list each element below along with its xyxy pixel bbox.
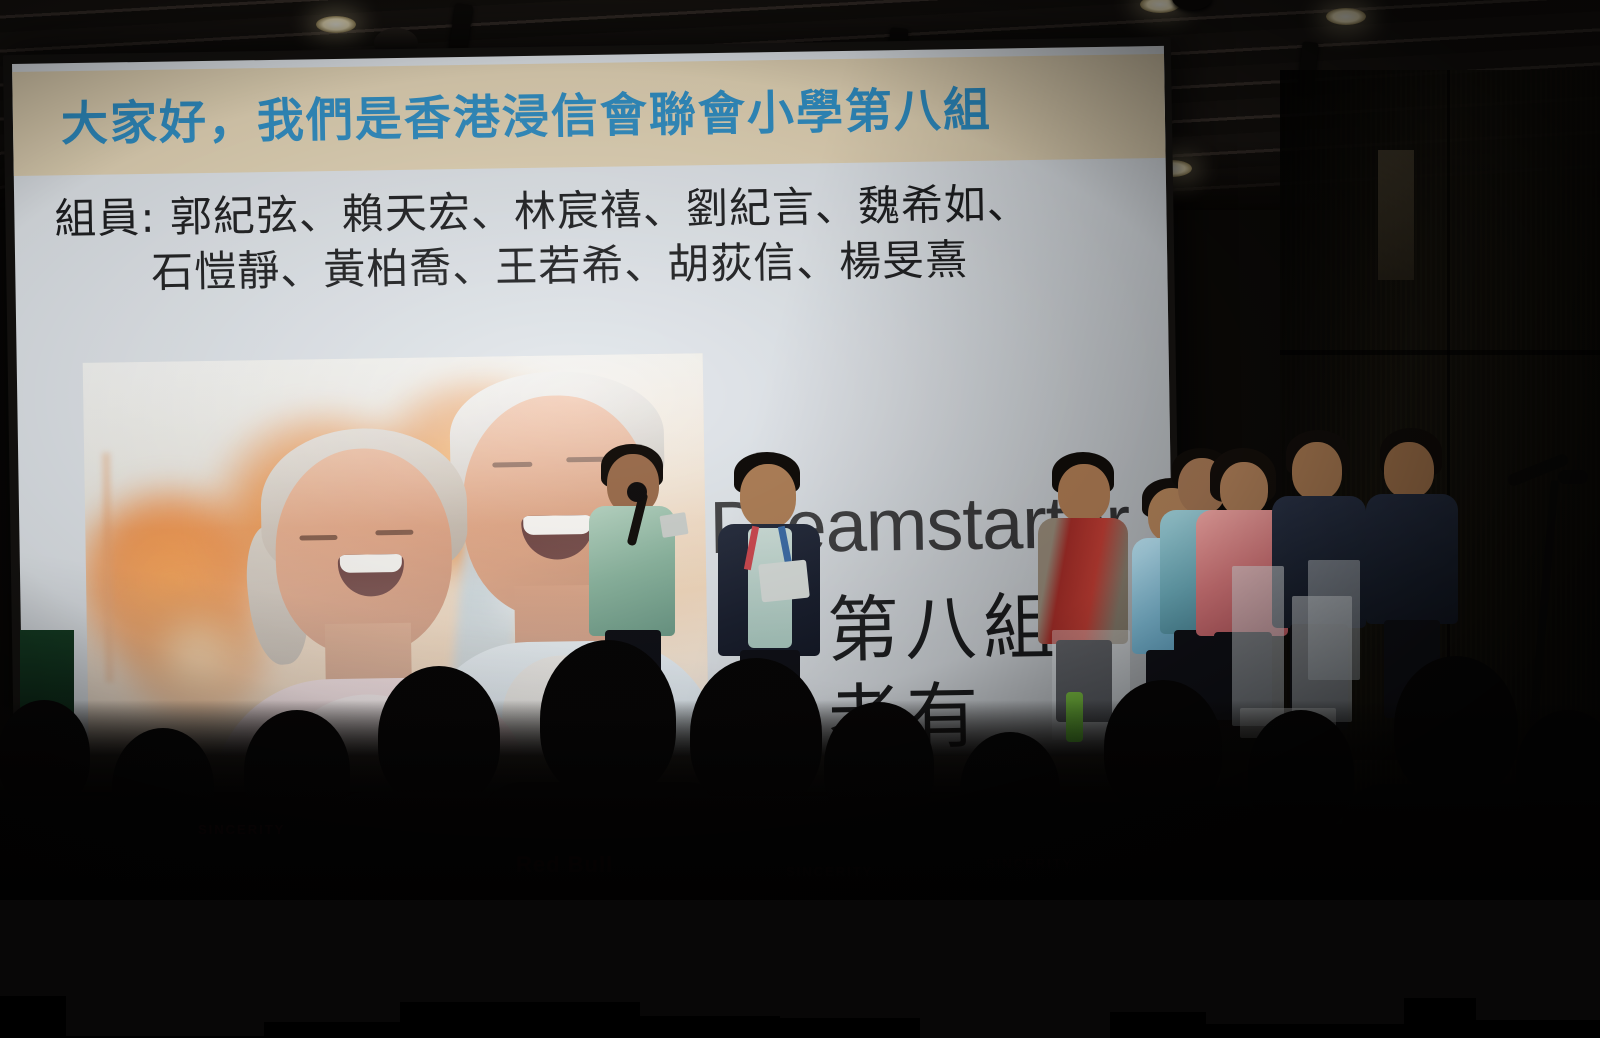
wall-light-panel — [1378, 150, 1414, 280]
downlight — [316, 16, 356, 33]
head — [740, 464, 796, 528]
head — [1220, 462, 1268, 516]
microphone-icon — [627, 482, 647, 502]
head — [1292, 442, 1342, 500]
wall-trim-band — [1280, 350, 1600, 355]
audience-shadow-gradient — [0, 700, 1600, 900]
head — [1384, 442, 1434, 498]
hall-room: 大家好，我們是香港浸信會聯會小學第八組 組員: 郭紀弦、賴天宏、林宸禧、劉紀言、… — [0, 0, 1600, 900]
cue-card — [659, 512, 688, 538]
slide-members: 組員: 郭紀弦、賴天宏、林宸禧、劉紀言、魏希如、 石愷靜、黃柏喬、王若希、胡荻信… — [54, 174, 1136, 302]
downlight — [1326, 8, 1366, 25]
head — [1058, 464, 1110, 522]
